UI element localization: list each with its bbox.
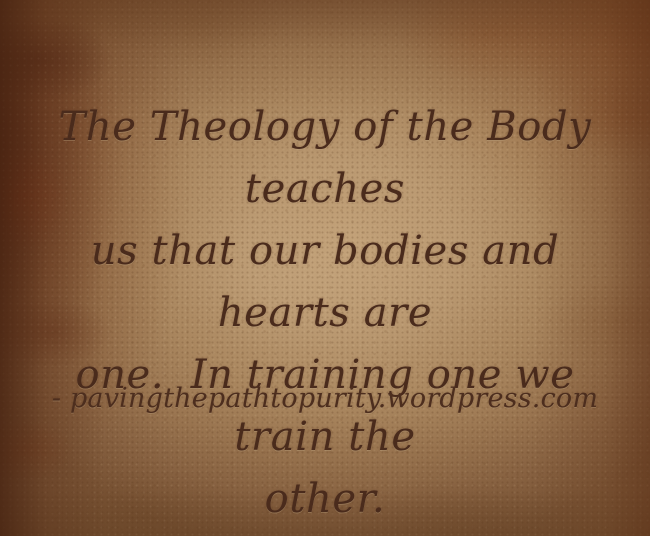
quote-text: The Theology of the Body teaches us that… — [0, 96, 650, 530]
poster-content: The Theology of the Body teaches us that… — [0, 0, 650, 536]
quote-poster: The Theology of the Body teaches us that… — [0, 0, 650, 536]
attribution-text: - pavingthepathtopurity.wordpress.com — [0, 382, 650, 416]
